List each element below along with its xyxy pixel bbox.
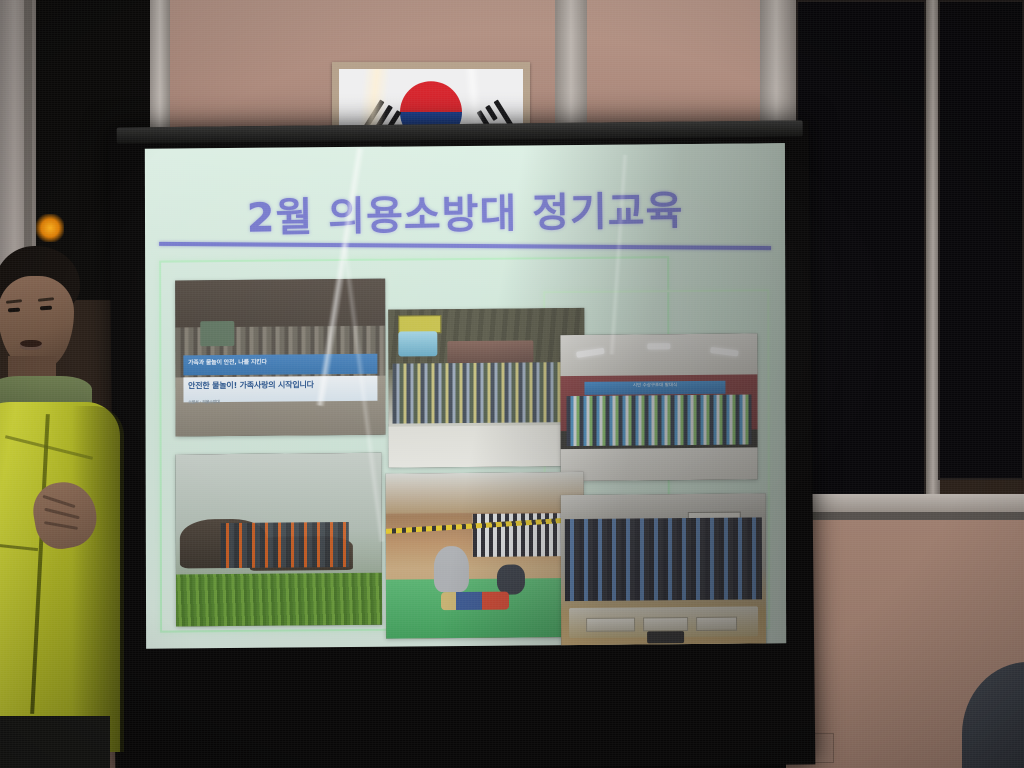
- night-window-right: [938, 0, 1024, 480]
- presenter-lower-body: [0, 716, 110, 768]
- slide-photo-cpr-training: [386, 472, 584, 639]
- slide-photo-indoor-group-tables: [561, 493, 766, 647]
- photo3-hall-banner-text: 시민 수상구조대 발대식: [588, 382, 722, 389]
- wall-column-middle-right: [555, 0, 587, 140]
- slide-photo-outdoor-group-vehicles: [388, 308, 584, 468]
- slide-photo-indoor-hall-group: 시민 수상구조대 발대식: [560, 333, 757, 481]
- presenter-jacket-shadow: [72, 406, 124, 752]
- slide-title: 2월 의용소방대 정기교육: [145, 176, 785, 245]
- presenter-eye-right: [40, 306, 52, 311]
- night-window-left: [796, 0, 926, 498]
- amber-lamp-glow-icon: [36, 214, 64, 242]
- presenter: [0, 246, 126, 768]
- projected-slide: 2월 의용소방대 정기교육 가족과 물놀이 안전, 나를 지킨다 안전한 물놀이…: [145, 143, 786, 649]
- photo1-banner-line-2: 안전한 물놀이! 가족사랑의 시작입니다: [188, 379, 377, 392]
- photo1-banner-line-1: 가족과 물놀이 안전, 나를 지킨다: [188, 356, 377, 367]
- wall-column-middle-left: [150, 0, 170, 140]
- slide-photo-firefighters-field: [176, 453, 382, 627]
- presenter-eye-left: [8, 308, 20, 313]
- projection-screen: 2월 의용소방대 정기교육 가족과 물놀이 안전, 나를 지킨다 안전한 물놀이…: [109, 120, 816, 768]
- presenter-mouth: [20, 340, 42, 350]
- photo-scene: 2월 의용소방대 정기교육 가족과 물놀이 안전, 나를 지킨다 안전한 물놀이…: [0, 0, 1024, 768]
- slide-photo-night-banner-crowd: 가족과 물놀이 안전, 나를 지킨다 안전한 물놀이! 가족사랑의 시작입니다 …: [175, 279, 385, 437]
- title-underline: [159, 242, 771, 250]
